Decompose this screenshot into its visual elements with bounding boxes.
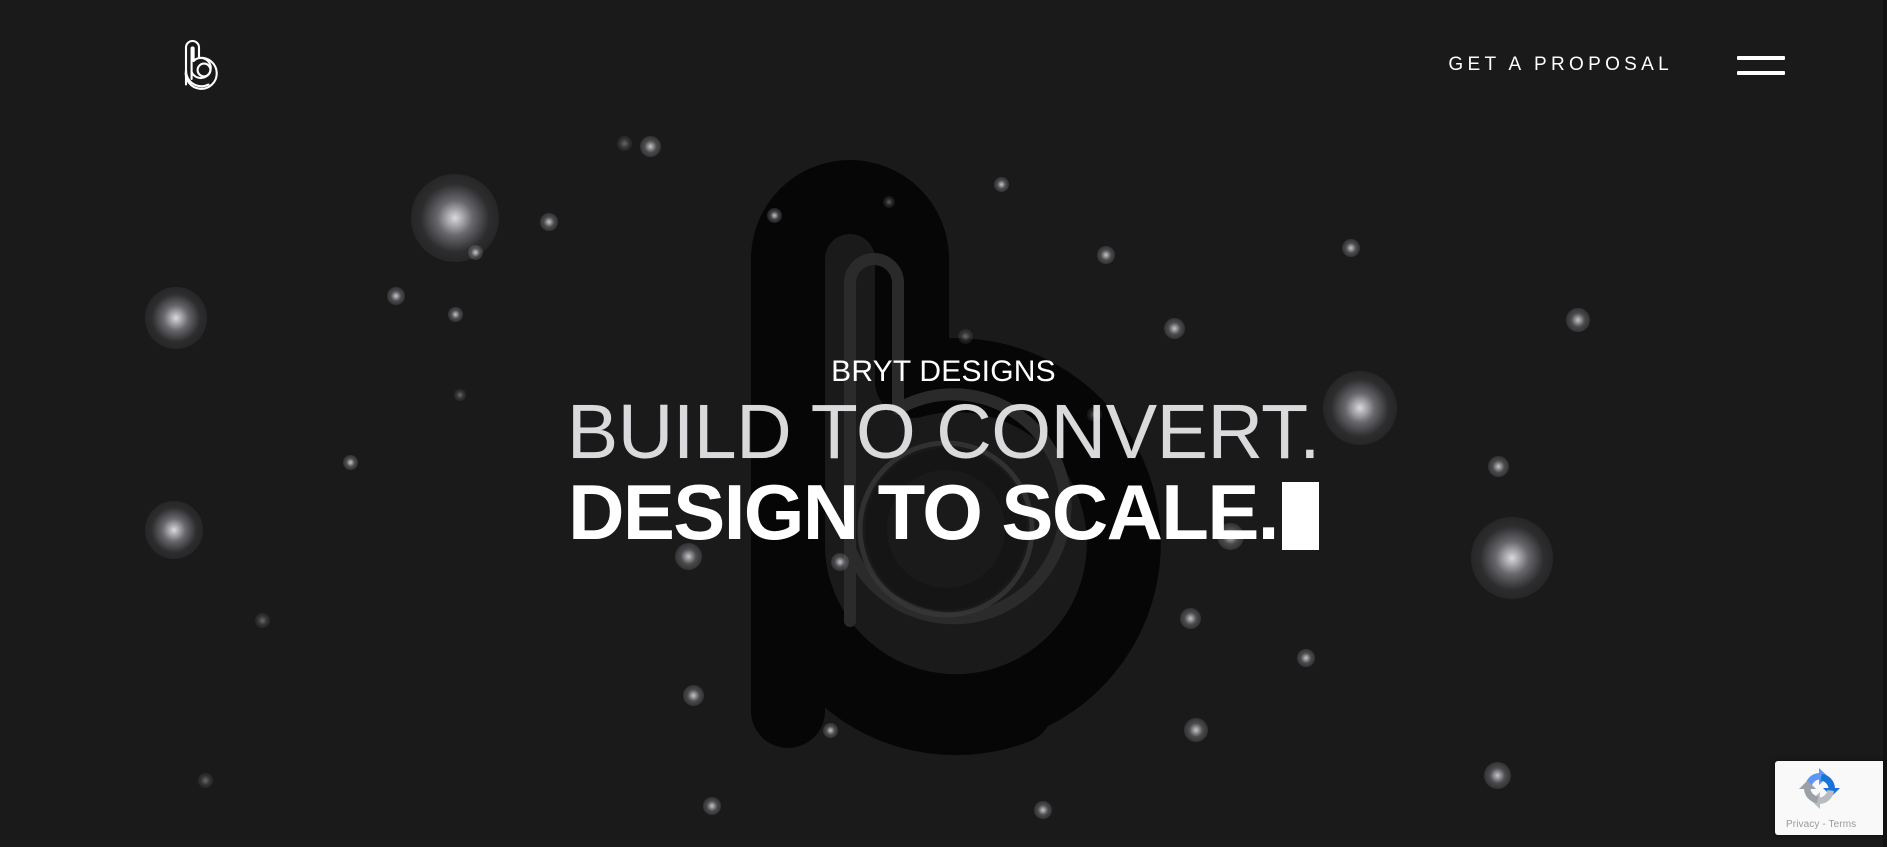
recaptcha-logo-icon	[1792, 766, 1848, 810]
star-particle	[994, 177, 1009, 192]
recaptcha-separator: -	[1822, 819, 1825, 830]
star-particle	[703, 797, 721, 815]
headline-line-two: DESIGN TO SCALE.	[568, 468, 1278, 556]
star-particle	[683, 685, 704, 706]
hamburger-menu-icon[interactable]	[1737, 48, 1785, 82]
star-particle	[1323, 371, 1398, 446]
headline-line-two-wrap: DESIGN TO SCALE.	[0, 474, 1887, 551]
star-particle	[145, 501, 203, 559]
recaptcha-terms-link[interactable]: Terms	[1829, 819, 1857, 830]
recaptcha-legal-text: Privacy - Terms	[1775, 819, 1887, 830]
star-particle	[387, 287, 405, 305]
star-particle	[1484, 762, 1511, 789]
menu-bar-top	[1737, 56, 1785, 60]
star-particle	[255, 613, 270, 628]
star-particle	[1164, 318, 1185, 339]
star-particle	[958, 329, 973, 344]
star-particle	[767, 208, 782, 223]
star-particle	[1297, 649, 1315, 667]
star-particle	[1034, 801, 1052, 819]
hero-copy: BRYT DESIGNS BUILD TO CONVERT. DESIGN TO…	[0, 356, 1887, 551]
star-particle	[1180, 608, 1201, 629]
star-particle	[1087, 407, 1102, 422]
star-particle	[448, 307, 463, 322]
star-particle	[454, 389, 466, 401]
star-particle	[1217, 523, 1244, 550]
star-particle	[540, 213, 558, 231]
recaptcha-badge[interactable]: Privacy - Terms	[1775, 761, 1887, 835]
recaptcha-privacy-link[interactable]: Privacy	[1786, 819, 1819, 830]
star-particle	[823, 723, 838, 738]
star-particle	[411, 174, 499, 262]
get-a-proposal-button[interactable]: GET A PROPOSAL	[1446, 45, 1675, 84]
headline-line-one: BUILD TO CONVERT.	[0, 394, 1887, 470]
star-particle	[1566, 308, 1590, 332]
page-root: BRYT DESIGNS BUILD TO CONVERT. DESIGN TO…	[0, 0, 1887, 847]
bryt-b-watermark-icon	[684, 151, 1204, 771]
page-title: BUILD TO CONVERT. DESIGN TO SCALE.	[0, 394, 1887, 551]
star-particle	[1471, 517, 1553, 599]
star-particle	[468, 245, 483, 260]
star-particle	[343, 455, 358, 470]
star-particle	[883, 196, 895, 208]
star-particle	[145, 287, 206, 348]
star-particle	[640, 136, 661, 157]
hero-eyebrow: BRYT DESIGNS	[0, 356, 1887, 388]
header-actions: GET A PROPOSAL	[1446, 0, 1887, 130]
star-particle	[1488, 456, 1509, 477]
star-particle	[617, 136, 632, 151]
bryt-b-logo-icon[interactable]	[178, 36, 230, 92]
menu-bar-bottom	[1737, 71, 1785, 75]
star-particle	[198, 773, 213, 788]
site-header: GET A PROPOSAL	[0, 0, 1887, 130]
star-particle	[1184, 718, 1208, 742]
scrollbar-gutter[interactable]	[1883, 0, 1887, 847]
star-particle	[675, 543, 702, 570]
star-particle	[1097, 246, 1115, 264]
typewriter-caret	[1282, 482, 1319, 550]
star-particle	[1342, 239, 1360, 257]
star-particle	[831, 553, 849, 571]
